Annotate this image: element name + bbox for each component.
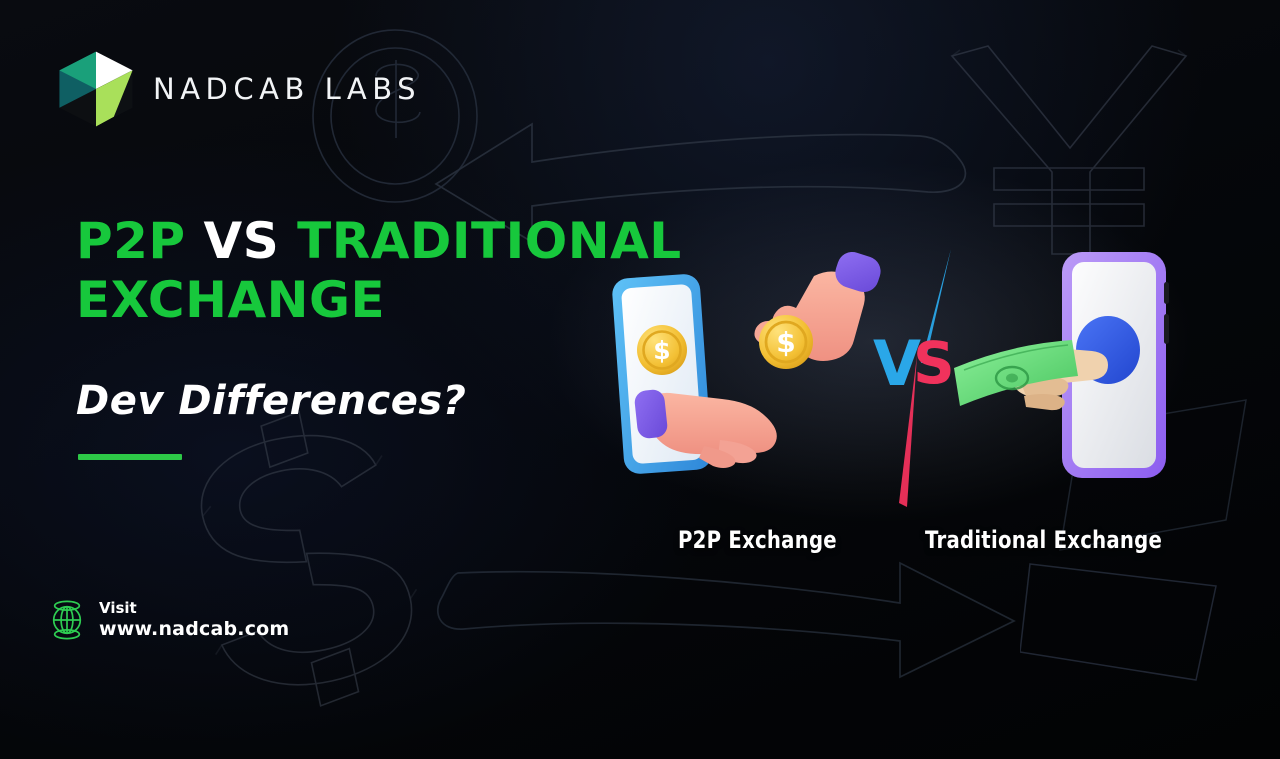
visit-label: Visit bbox=[99, 599, 289, 617]
hexagon-cube-logo-icon bbox=[55, 50, 137, 128]
wireframe-arrow-right-icon bbox=[430, 545, 1050, 695]
svg-text:$: $ bbox=[776, 326, 795, 359]
p2p-exchange-caption: P2P Exchange bbox=[678, 526, 837, 554]
brand-logo[interactable]: NADCAB LABS bbox=[55, 50, 421, 128]
traditional-exchange-illustration bbox=[950, 240, 1220, 500]
visit-block[interactable]: Visit www.nadcab.com bbox=[48, 598, 289, 642]
headline-part-1: P2P bbox=[76, 212, 204, 270]
visit-url[interactable]: www.nadcab.com bbox=[99, 618, 289, 641]
wireframe-dollar-symbol-icon bbox=[95, 400, 515, 730]
headline-line-2: EXCHANGE bbox=[76, 271, 385, 329]
wireframe-plate-icon bbox=[1020, 560, 1280, 750]
visit-text-block: Visit www.nadcab.com bbox=[99, 599, 289, 640]
p2p-transfer-coin-icon: $ bbox=[759, 315, 813, 369]
traditional-exchange-caption: Traditional Exchange bbox=[925, 526, 1162, 554]
svg-text:$: $ bbox=[653, 336, 670, 365]
title-divider bbox=[78, 454, 182, 460]
wireframe-yen-symbol-icon bbox=[930, 40, 1210, 270]
brand-wordmark: NADCAB LABS bbox=[153, 72, 421, 106]
p2p-screen-coin-icon: $ bbox=[637, 325, 687, 375]
headline-vs: VS bbox=[204, 212, 280, 270]
vs-letter-s: S bbox=[913, 329, 955, 397]
banknote-icon bbox=[954, 340, 1078, 406]
page-subtitle: Dev Differences? bbox=[76, 378, 466, 424]
globe-icon bbox=[48, 598, 86, 642]
p2p-exchange-illustration: $ $ bbox=[600, 250, 890, 500]
banner-canvas: NADCAB LABS P2P VS TRADITIONAL EXCHANGE … bbox=[0, 0, 1280, 759]
